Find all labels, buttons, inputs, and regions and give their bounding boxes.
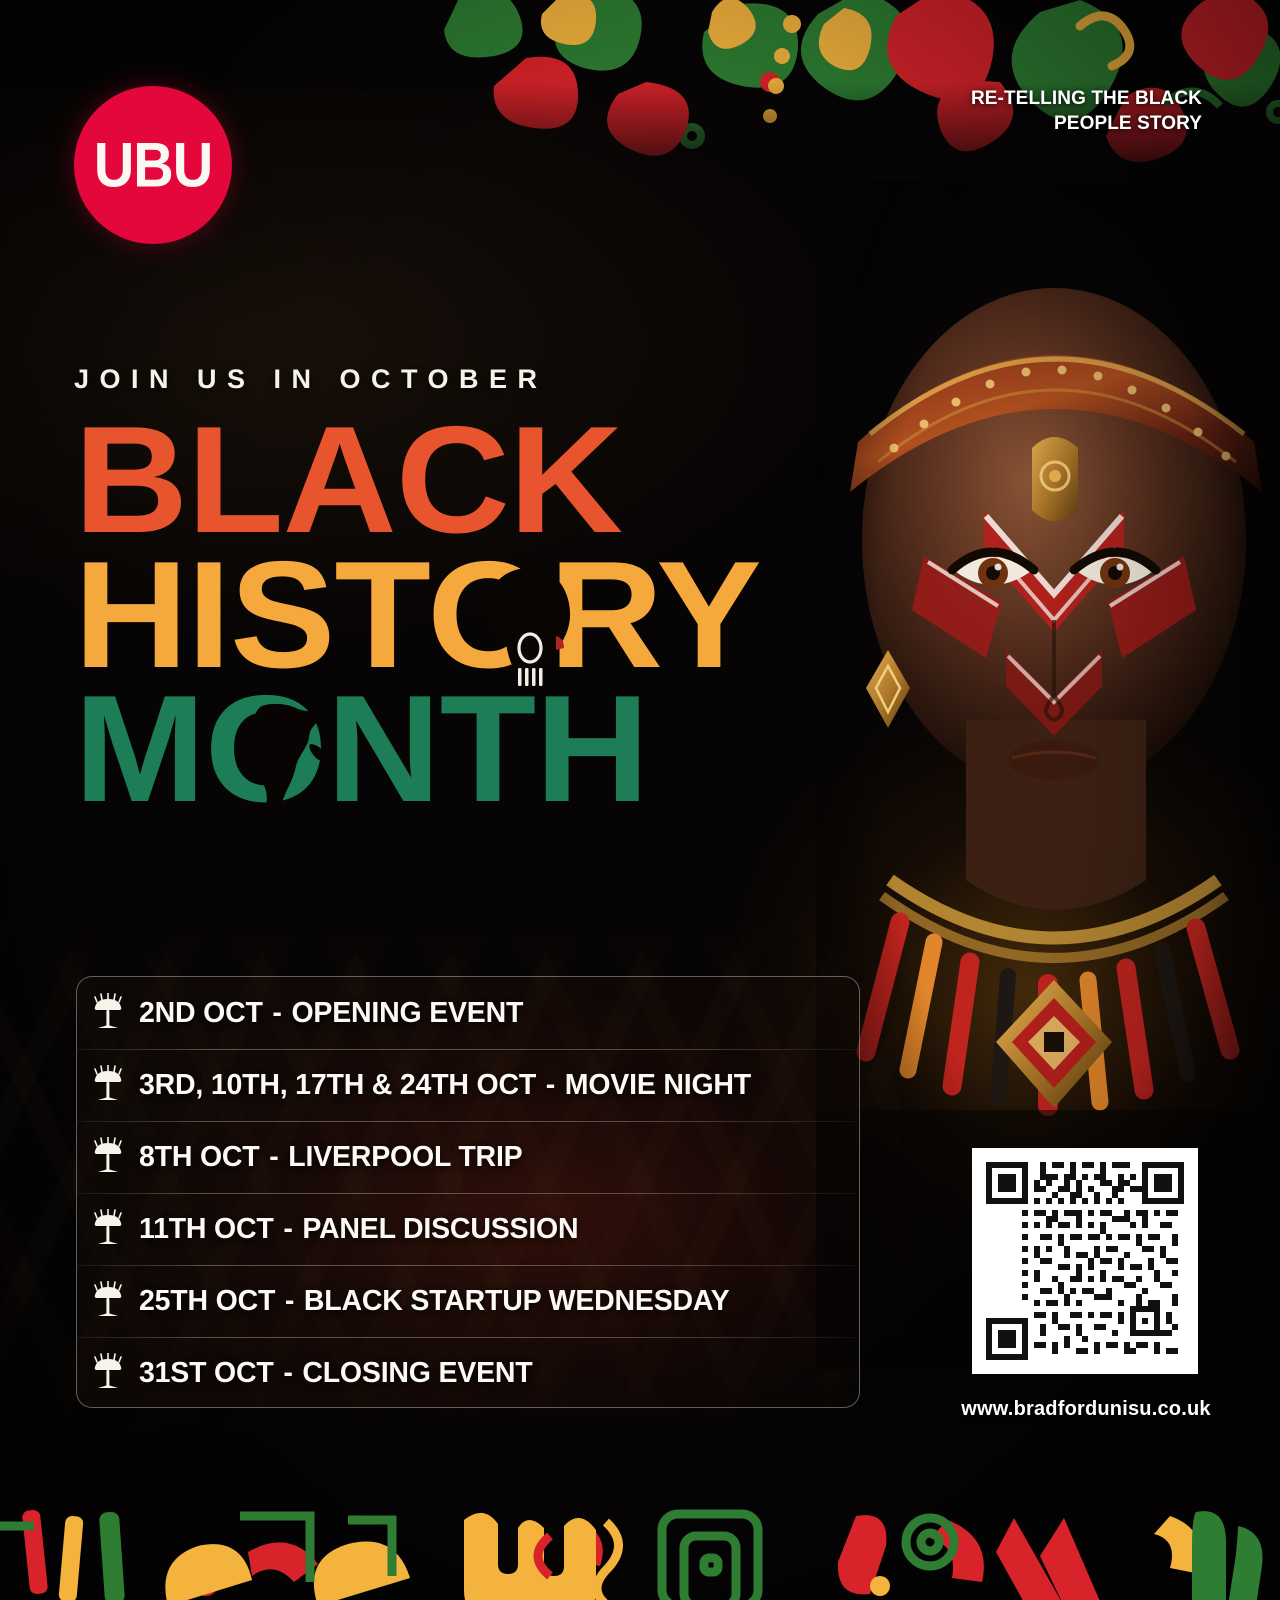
event-name: LIVERPOOL TRIP bbox=[288, 1141, 522, 1173]
event-dash: - bbox=[544, 1069, 557, 1101]
event-name: OPENING EVENT bbox=[291, 997, 523, 1029]
event-row[interactable]: 11TH OCT - PANEL DISCUSSION bbox=[77, 1193, 859, 1265]
event-text: 25TH OCT - BLACK STARTUP WEDNESDAY bbox=[139, 1287, 729, 1316]
baobab-tree-icon bbox=[91, 1137, 125, 1177]
event-date: 11TH OCT bbox=[139, 1213, 274, 1245]
event-row[interactable]: 3RD, 10TH, 17TH & 24TH OCT - MOVIE NIGHT bbox=[77, 1049, 859, 1121]
poster-root: UBU RE-TELLING THE BLACK PEOPLE STORY JO… bbox=[0, 0, 1280, 1600]
event-text: 11TH OCT - PANEL DISCUSSION bbox=[139, 1215, 578, 1244]
headline-word-history: HISTORY bbox=[74, 550, 761, 681]
event-date: 8TH OCT bbox=[139, 1141, 260, 1173]
headline-word-black: BLACK bbox=[74, 415, 761, 546]
baobab-tree-icon bbox=[91, 1065, 125, 1105]
event-name: CLOSING EVENT bbox=[302, 1357, 532, 1389]
event-dash: - bbox=[283, 1285, 296, 1317]
tagline: RE-TELLING THE BLACK PEOPLE STORY bbox=[971, 86, 1202, 136]
baobab-tree-icon bbox=[91, 1281, 125, 1321]
tribal-pattern-bottom bbox=[0, 1456, 1280, 1600]
event-dash: - bbox=[281, 1213, 294, 1245]
logo-text: UBU bbox=[94, 134, 212, 197]
event-date: 3RD, 10TH, 17TH & 24TH OCT bbox=[139, 1069, 536, 1101]
headline-word-month: MONTH bbox=[74, 684, 648, 815]
ubu-logo[interactable]: UBU bbox=[74, 86, 232, 244]
event-name: MOVIE NIGHT bbox=[565, 1069, 751, 1101]
tagline-line-2: PEOPLE STORY bbox=[971, 111, 1202, 136]
event-name: PANEL DISCUSSION bbox=[302, 1213, 578, 1245]
website-url[interactable]: www.bradfordunisu.co.uk bbox=[952, 1398, 1220, 1421]
event-dash: - bbox=[270, 997, 283, 1029]
events-panel: 2ND OCT - OPENING EVENT 3RD, 10TH, 17TH … bbox=[76, 976, 860, 1408]
event-row[interactable]: 31ST OCT - CLOSING EVENT bbox=[77, 1337, 859, 1408]
event-dash: - bbox=[281, 1357, 294, 1389]
tagline-line-1: RE-TELLING THE BLACK bbox=[971, 86, 1202, 111]
event-text: 3RD, 10TH, 17TH & 24TH OCT - MOVIE NIGHT bbox=[139, 1071, 751, 1100]
event-date: 2ND OCT bbox=[139, 997, 263, 1029]
headline-kicker: JOIN US IN OCTOBER bbox=[74, 366, 734, 393]
event-text: 31ST OCT - CLOSING EVENT bbox=[139, 1359, 533, 1388]
event-text: 2ND OCT - OPENING EVENT bbox=[139, 999, 523, 1028]
baobab-tree-icon bbox=[91, 1353, 125, 1393]
baobab-tree-icon bbox=[91, 993, 125, 1033]
event-row[interactable]: 25TH OCT - BLACK STARTUP WEDNESDAY bbox=[77, 1265, 859, 1337]
event-row[interactable]: 8TH OCT - LIVERPOOL TRIP bbox=[77, 1121, 859, 1193]
headline-block: JOIN US IN OCTOBER BLACK HISTORY bbox=[74, 366, 734, 815]
qr-code[interactable] bbox=[972, 1148, 1198, 1374]
event-date: 25TH OCT bbox=[139, 1285, 275, 1317]
event-name: BLACK STARTUP WEDNESDAY bbox=[304, 1285, 730, 1317]
event-text: 8TH OCT - LIVERPOOL TRIP bbox=[139, 1143, 522, 1172]
event-dash: - bbox=[267, 1141, 280, 1173]
event-date: 31ST OCT bbox=[139, 1357, 274, 1389]
event-row[interactable]: 2ND OCT - OPENING EVENT bbox=[77, 977, 859, 1049]
baobab-tree-icon bbox=[91, 1209, 125, 1249]
